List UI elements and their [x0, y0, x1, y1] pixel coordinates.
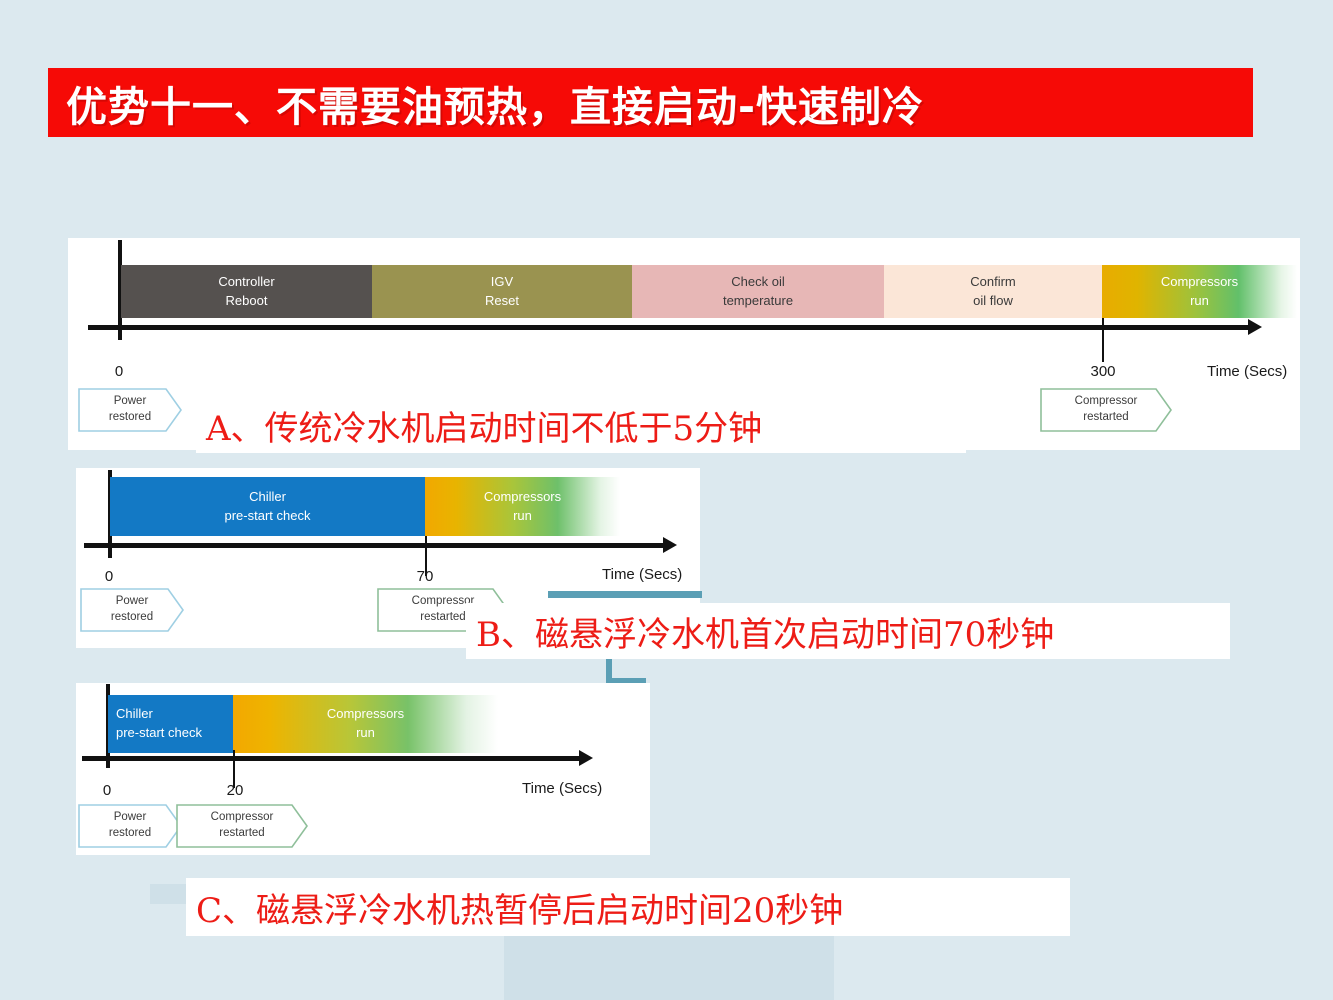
- chart-b-ticklabel-0: 0: [94, 568, 124, 585]
- chart-c-ticklabel-0: 0: [92, 782, 122, 799]
- slide-root: 优势十一、不需要油预热，直接启动-快速制冷 Controller Reboot …: [0, 0, 1333, 1000]
- chart-a-segment-controller-reboot: Controller Reboot: [121, 265, 372, 318]
- title-banner: 优势十一、不需要油预热，直接启动-快速制冷: [48, 68, 1253, 137]
- caption-a-text: A、传统冷水机启动时间不低于5分钟: [196, 401, 762, 450]
- segment-label-line2: temperature: [723, 292, 793, 311]
- chart-c-end-flag: Compressor restarted: [176, 804, 308, 848]
- chart-a-axis-title: Time (Secs): [1207, 363, 1287, 380]
- chevron-flag-shape: [80, 588, 184, 632]
- chart-b-ticklabel-70: 70: [405, 568, 445, 585]
- segment-label-line2: oil flow: [973, 292, 1013, 311]
- chart-b-axis-title: Time (Secs): [602, 566, 682, 583]
- chart-c-ticklabel-20: 20: [215, 782, 255, 799]
- corner-bracket-icon: [606, 659, 646, 685]
- decor-block-left: [150, 884, 186, 904]
- page-title: 优势十一、不需要油预热，直接启动-快速制冷: [48, 73, 924, 133]
- segment-label-line1: Chiller: [116, 705, 153, 724]
- segment-label-line1: Controller: [218, 273, 274, 292]
- segment-label-line2: run: [356, 724, 375, 743]
- chart-c-start-flag: Power restored: [78, 804, 182, 848]
- chart-a-ticklabel-300: 300: [1078, 363, 1128, 380]
- segment-label-line1: Confirm: [970, 273, 1016, 292]
- chart-a-segment-check-oil-temperature: Check oil temperature: [632, 265, 884, 318]
- segment-label-line1: Chiller: [249, 488, 286, 507]
- chart-a-axis-line: [88, 325, 1251, 330]
- chart-b-segment-compressors-run: Compressors run: [425, 477, 620, 536]
- chevron-flag-shape: [1040, 388, 1172, 432]
- segment-label-line2: run: [513, 507, 532, 526]
- segment-label-line1: Compressors: [1161, 273, 1238, 292]
- chart-c-axis-line: [82, 756, 582, 761]
- caption-c-text: C、磁悬浮冷水机热暂停后启动时间20秒钟: [186, 883, 843, 932]
- chart-b-segment-chiller-pre-start-check: Chiller pre-start check: [110, 477, 425, 536]
- caption-b-band: B、磁悬浮冷水机首次启动时间70秒钟: [466, 603, 1230, 659]
- decor-block-bottom: [504, 936, 834, 1000]
- chevron-flag-shape: [78, 388, 182, 432]
- segment-label-line2: pre-start check: [225, 507, 311, 526]
- segment-label-line1: Compressors: [327, 705, 404, 724]
- chart-b-axis-line: [84, 543, 666, 548]
- chart-a-tick-300: [1102, 318, 1104, 362]
- chart-a-segment-confirm-oil-flow: Confirm oil flow: [884, 265, 1102, 318]
- chart-c-segment-chiller-pre-start-check: Chiller pre-start check: [108, 695, 241, 753]
- segment-label-line2: pre-start check: [116, 724, 202, 743]
- chart-c-axis-title: Time (Secs): [522, 780, 602, 797]
- chevron-flag-shape: [176, 804, 308, 848]
- caption-c-band: C、磁悬浮冷水机热暂停后启动时间20秒钟: [186, 878, 1070, 936]
- chart-a-axis-arrow: [1248, 319, 1262, 335]
- chart-c-axis-arrow: [579, 750, 593, 766]
- caption-b-text: B、磁悬浮冷水机首次启动时间70秒钟: [466, 607, 1054, 656]
- chart-a-segment-igv-reset: IGV Reset: [372, 265, 632, 318]
- segment-label-line2: Reset: [485, 292, 519, 311]
- chart-b-start-flag: Power restored: [80, 588, 184, 632]
- chart-a-end-flag: Compressor restarted: [1040, 388, 1172, 432]
- segment-label-line1: Check oil: [731, 273, 784, 292]
- chart-a-ticklabel-0: 0: [104, 363, 134, 380]
- segment-label-line1: Compressors: [484, 488, 561, 507]
- segment-label-line1: IGV: [491, 273, 513, 292]
- chart-a-start-flag: Power restored: [78, 388, 182, 432]
- caption-a-band: A、传统冷水机启动时间不低于5分钟: [196, 398, 966, 453]
- caption-b-top-accent-bar: [548, 591, 702, 598]
- chevron-flag-shape: [78, 804, 182, 848]
- chart-c-segment-compressors-run: Compressors run: [233, 695, 498, 753]
- segment-label-line2: Reboot: [226, 292, 268, 311]
- caption-b-bottom-corner-accent: [606, 659, 646, 685]
- segment-label-line2: run: [1190, 292, 1209, 311]
- chart-b-axis-arrow: [663, 537, 677, 553]
- chart-a-segment-compressors-run: Compressors run: [1102, 265, 1297, 318]
